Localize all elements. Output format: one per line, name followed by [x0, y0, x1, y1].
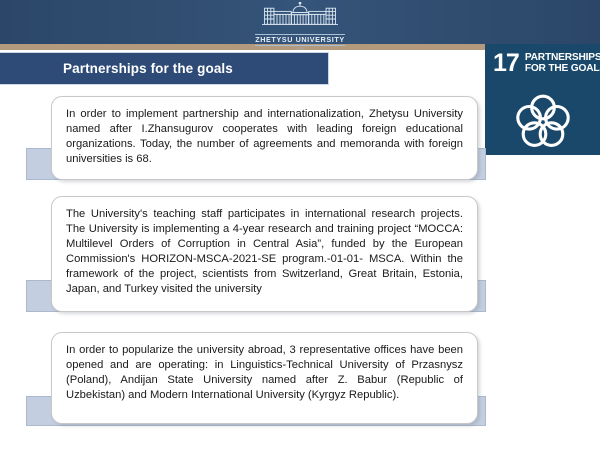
sdg-goal-title-line2: FOR THE GOALS	[525, 63, 600, 74]
content-card-representative-offices: In order to popularize the university ab…	[51, 332, 478, 424]
content-card-research-projects: The University's teaching staff particip…	[51, 196, 478, 312]
page-title: Partnerships for the goals	[0, 61, 233, 76]
sdg-17-badge: 17 PARTNERSHIPS FOR THE GOALS	[485, 44, 600, 155]
university-logo: ZHETYSU UNIVERSITY 1972	[248, 2, 352, 46]
sdg-goal-title-line1: PARTNERSHIPS	[525, 52, 600, 63]
sdg-goal-number: 17	[493, 52, 519, 74]
content-card-partnership-count: In order to implement partnership and in…	[51, 96, 478, 180]
card-body-text: In order to popularize the university ab…	[52, 333, 477, 411]
sdg-goal-title: PARTNERSHIPS FOR THE GOALS	[525, 52, 600, 74]
university-name: ZHETYSU UNIVERSITY	[255, 34, 344, 46]
card-body-text: The University's teaching staff particip…	[52, 197, 477, 306]
sdg-badge-heading: 17 PARTNERSHIPS FOR THE GOALS	[485, 44, 600, 74]
slide-title-bar: Partnerships for the goals	[0, 52, 329, 85]
card-body-text: In order to implement partnership and in…	[52, 97, 477, 175]
slide-root: ZHETYSU UNIVERSITY 1972 Partnerships for…	[0, 0, 600, 450]
sdg-17-interlocking-rings-icon	[512, 92, 574, 155]
university-building-icon	[248, 2, 352, 29]
university-established-year: 1972	[248, 47, 352, 52]
